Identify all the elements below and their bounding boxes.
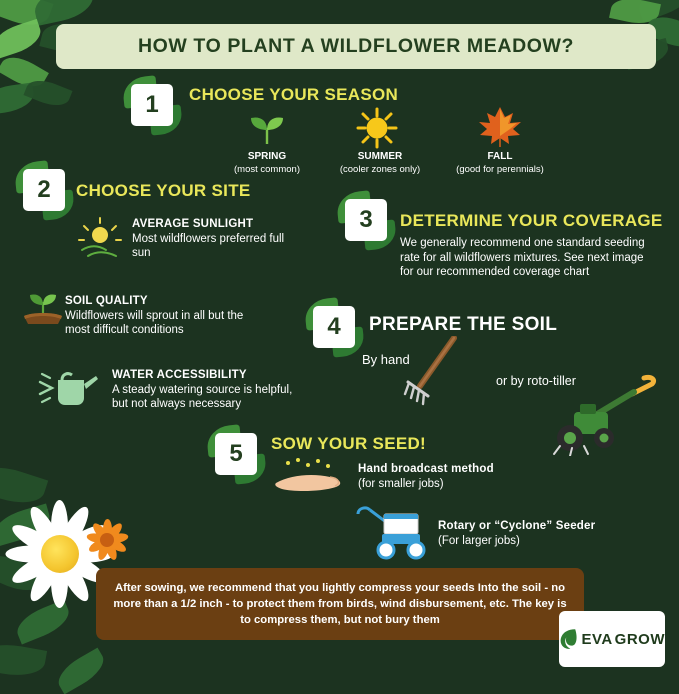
item-label: WATER ACCESSIBILITY: [112, 369, 247, 381]
logo-text-grow: GROW: [615, 632, 665, 647]
leaf-logo-icon: [559, 624, 578, 654]
step-2-badge: 2: [23, 169, 65, 211]
season-note: (good for perennials): [456, 164, 544, 175]
season-spring-caption: SPRING (most common): [231, 151, 303, 175]
method-label: Hand broadcast method: [358, 463, 494, 475]
sow-method-hand: Hand broadcast method (for smaller jobs): [358, 462, 528, 491]
step-3-badge: 3: [345, 199, 387, 241]
roto-tiller-icon: [548, 368, 658, 456]
infographic-canvas: HOW TO PLANT A WILDFLOWER MEADOW? 1 CHOO…: [0, 0, 679, 679]
step-5-heading: SOW YOUR SEED!: [271, 434, 426, 454]
item-label: SOIL QUALITY: [65, 295, 148, 307]
season-note: (cooler zones only): [340, 164, 420, 175]
step-number: 4: [313, 306, 355, 348]
brand-logo: EVA GROW: [559, 611, 665, 667]
step-4-badge: 4: [313, 306, 355, 348]
step-3-heading: DETERMINE YOUR COVERAGE: [400, 211, 663, 231]
site-item-soil: SOIL QUALITY Wildflowers will sprout in …: [65, 294, 255, 338]
step-3-text: We generally recommend one standard seed…: [400, 236, 648, 280]
method-note: (For larger jobs): [438, 535, 520, 547]
sow-method-spreader: Rotary or “Cyclone” Seeder (For larger j…: [438, 519, 628, 548]
season-name: SUMMER: [358, 151, 402, 162]
watering-can-icon: [38, 368, 102, 410]
sprout-in-soil-icon: [18, 284, 68, 328]
step-number: 5: [215, 433, 257, 475]
site-item-sunlight: AVERAGE SUNLIGHT Most wildflowers prefer…: [132, 217, 302, 261]
method-label: Rotary or “Cyclone” Seeder: [438, 520, 595, 532]
method-note: (for smaller jobs): [358, 478, 444, 490]
page-title-panel: HOW TO PLANT A WILDFLOWER MEADOW?: [56, 24, 656, 69]
sun-over-field-icon: [76, 216, 124, 260]
step-5-badge: 5: [215, 433, 257, 475]
step-1-badge: 1: [131, 84, 173, 126]
season-summer-caption: SUMMER (cooler zones only): [330, 151, 430, 175]
step-1-heading: CHOOSE YOUR SEASON: [189, 85, 398, 105]
item-label: AVERAGE SUNLIGHT: [132, 218, 253, 230]
item-text: A steady watering source is helpful, but…: [112, 384, 292, 411]
logo-text-eva: EVA: [581, 632, 612, 647]
step-2-heading: CHOOSE YOUR SITE: [76, 181, 251, 201]
sun-icon: [354, 107, 400, 149]
rake-icon: [398, 336, 460, 408]
bottom-note-panel: After sowing, we recommend that you ligh…: [96, 568, 584, 640]
step-number: 3: [345, 199, 387, 241]
step-4-heading: PREPARE THE SOIL: [369, 314, 557, 336]
maple-leaf-icon: [476, 105, 524, 149]
item-text: Most wildflowers preferred full sun: [132, 233, 284, 260]
page-title: HOW TO PLANT A WILDFLOWER MEADOW?: [138, 35, 574, 58]
season-name: FALL: [488, 151, 513, 162]
season-fall-caption: FALL (good for perennials): [448, 151, 552, 175]
bottom-note-text: After sowing, we recommend that you ligh…: [110, 580, 570, 628]
step-number: 2: [23, 169, 65, 211]
spreader-icon: [352, 506, 434, 560]
site-item-water: WATER ACCESSIBILITY A steady watering so…: [112, 368, 302, 412]
seedling-icon: [245, 112, 289, 146]
season-name: SPRING: [248, 151, 286, 162]
season-note: (most common): [234, 164, 300, 175]
item-text: Wildflowers will sprout in all but the m…: [65, 310, 243, 337]
step-number: 1: [131, 84, 173, 126]
marigold-flower-decoration: [86, 519, 128, 561]
hand-sowing-icon: [272, 457, 352, 497]
